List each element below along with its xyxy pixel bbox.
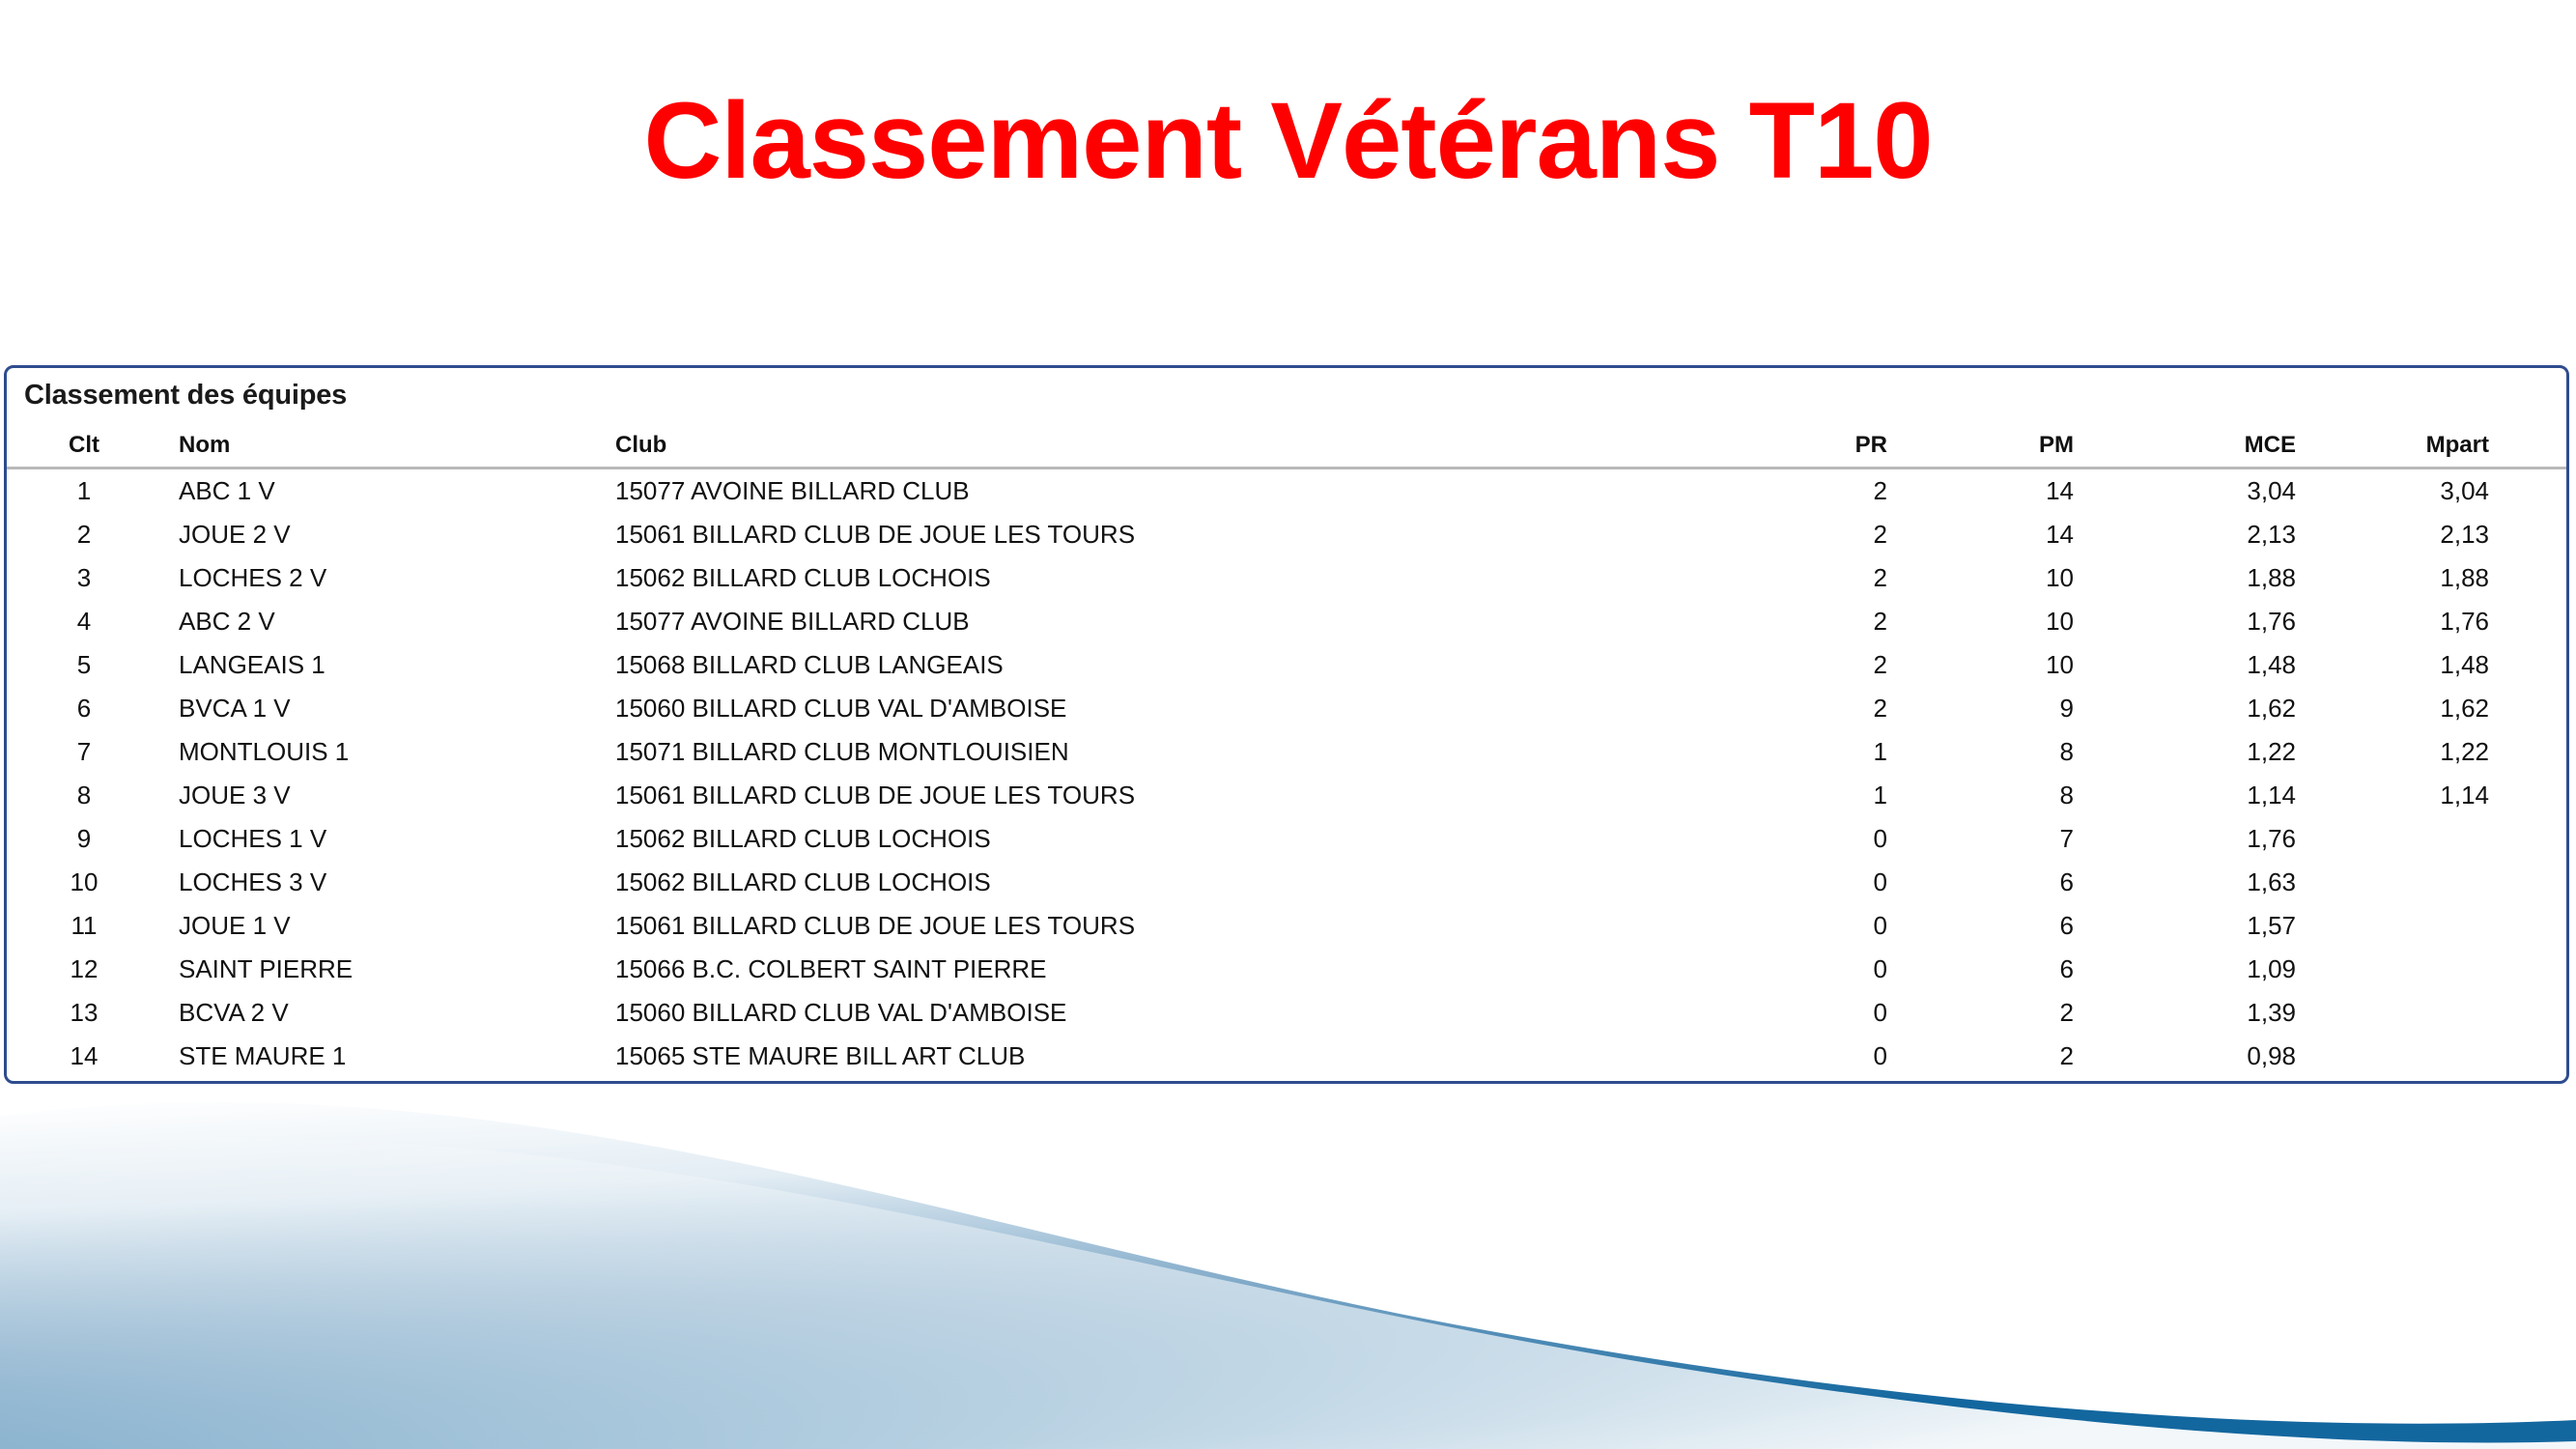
- cell-pm: 2: [1963, 991, 2146, 1035]
- cell-pr: 2: [1760, 643, 1963, 687]
- table-row[interactable]: 11JOUE 1 V15061 BILLARD CLUB DE JOUE LES…: [7, 904, 2569, 948]
- cell-ms: [2552, 904, 2569, 948]
- cell-pm: 14: [1963, 513, 2146, 556]
- cell-ms: 21: [2552, 556, 2569, 600]
- cell-clt: 8: [7, 774, 161, 817]
- cell-mpart: 1,48: [2354, 643, 2552, 687]
- cell-mpart: 1,14: [2354, 774, 2552, 817]
- cell-mce: 3,04: [2146, 469, 2354, 514]
- column-header-pm[interactable]: PM: [1963, 428, 2146, 469]
- table-row[interactable]: 1ABC 1 V15077 AVOINE BILLARD CLUB2143,04…: [7, 469, 2569, 514]
- cell-ms: [2552, 817, 2569, 861]
- cell-pr: 1: [1760, 774, 1963, 817]
- cell-nom: JOUE 1 V: [161, 904, 596, 948]
- cell-nom: ABC 1 V: [161, 469, 596, 514]
- cell-mpart: [2354, 948, 2552, 991]
- table-row[interactable]: 9LOCHES 1 V15062 BILLARD CLUB LOCHOIS071…: [7, 817, 2569, 861]
- cell-nom: LOCHES 1 V: [161, 817, 596, 861]
- cell-mce: 1,76: [2146, 600, 2354, 643]
- cell-club: 15077 AVOINE BILLARD CLUB: [596, 600, 1760, 643]
- cell-nom: STE MAURE 1: [161, 1035, 596, 1078]
- cell-ms: [2552, 861, 2569, 904]
- cell-ms: 24: [2552, 469, 2569, 514]
- cell-pm: 8: [1963, 774, 2146, 817]
- cell-pr: 0: [1760, 817, 1963, 861]
- cell-clt: 5: [7, 643, 161, 687]
- cell-mpart: [2354, 1035, 2552, 1078]
- cell-club: 15061 BILLARD CLUB DE JOUE LES TOURS: [596, 904, 1760, 948]
- cell-mpart: 3,04: [2354, 469, 2552, 514]
- table-body: 1ABC 1 V15077 AVOINE BILLARD CLUB2143,04…: [7, 469, 2569, 1079]
- cell-clt: 13: [7, 991, 161, 1035]
- cell-mpart: 2,13: [2354, 513, 2552, 556]
- cell-mce: 1,22: [2146, 730, 2354, 774]
- cell-pr: 2: [1760, 556, 1963, 600]
- cell-mpart: 1,62: [2354, 687, 2552, 730]
- cell-clt: 4: [7, 600, 161, 643]
- cell-nom: LANGEAIS 1: [161, 643, 596, 687]
- cell-ms: 21: [2552, 513, 2569, 556]
- cell-pr: 1: [1760, 730, 1963, 774]
- cell-club: 15062 BILLARD CLUB LOCHOIS: [596, 817, 1760, 861]
- cell-ms: [2552, 991, 2569, 1035]
- cell-pr: 0: [1760, 904, 1963, 948]
- cell-nom: LOCHES 3 V: [161, 861, 596, 904]
- cell-clt: 14: [7, 1035, 161, 1078]
- slide-canvas: Classement Vétérans T10 Classement des é…: [0, 0, 2576, 1449]
- table-row[interactable]: 4ABC 2 V15077 AVOINE BILLARD CLUB2101,76…: [7, 600, 2569, 643]
- ranking-table: Clt Nom Club PR PM MCE Mpart MS 1ABC 1 V…: [7, 428, 2569, 1078]
- cell-club: 15062 BILLARD CLUB LOCHOIS: [596, 556, 1760, 600]
- cell-nom: ABC 2 V: [161, 600, 596, 643]
- table-row[interactable]: 8JOUE 3 V15061 BILLARD CLUB DE JOUE LES …: [7, 774, 2569, 817]
- cell-pr: 0: [1760, 861, 1963, 904]
- cell-club: 15065 STE MAURE BILL ART CLUB: [596, 1035, 1760, 1078]
- cell-mce: 1,57: [2146, 904, 2354, 948]
- cell-mce: 2,13: [2146, 513, 2354, 556]
- table-row[interactable]: 13BCVA 2 V15060 BILLARD CLUB VAL D'AMBOI…: [7, 991, 2569, 1035]
- table-header: Clt Nom Club PR PM MCE Mpart MS: [7, 428, 2569, 469]
- cell-mce: 1,14: [2146, 774, 2354, 817]
- cell-clt: 10: [7, 861, 161, 904]
- column-header-mpart[interactable]: Mpart: [2354, 428, 2552, 469]
- cell-club: 15066 B.C. COLBERT SAINT PIERRE: [596, 948, 1760, 991]
- cell-ms: [2552, 948, 2569, 991]
- table-row[interactable]: 6BVCA 1 V15060 BILLARD CLUB VAL D'AMBOIS…: [7, 687, 2569, 730]
- cell-clt: 2: [7, 513, 161, 556]
- cell-ms: 49: [2552, 600, 2569, 643]
- cell-pm: 10: [1963, 556, 2146, 600]
- column-header-nom[interactable]: Nom: [161, 428, 596, 469]
- cell-nom: JOUE 3 V: [161, 774, 596, 817]
- cell-club: 15068 BILLARD CLUB LANGEAIS: [596, 643, 1760, 687]
- cell-club: 15071 BILLARD CLUB MONTLOUISIEN: [596, 730, 1760, 774]
- cell-clt: 12: [7, 948, 161, 991]
- cell-mpart: [2354, 904, 2552, 948]
- cell-mpart: [2354, 817, 2552, 861]
- cell-pm: 8: [1963, 730, 2146, 774]
- table-row[interactable]: 5LANGEAIS 115068 BILLARD CLUB LANGEAIS21…: [7, 643, 2569, 687]
- column-header-ms[interactable]: MS: [2552, 428, 2569, 469]
- cell-pr: 0: [1760, 991, 1963, 1035]
- cell-nom: MONTLOUIS 1: [161, 730, 596, 774]
- cell-ms: 24: [2552, 687, 2569, 730]
- cell-mce: 1,39: [2146, 991, 2354, 1035]
- cell-mpart: [2354, 861, 2552, 904]
- cell-pm: 10: [1963, 643, 2146, 687]
- cell-pr: 0: [1760, 948, 1963, 991]
- cell-clt: 11: [7, 904, 161, 948]
- cell-mce: 1,63: [2146, 861, 2354, 904]
- cell-pm: 6: [1963, 948, 2146, 991]
- cell-pm: 9: [1963, 687, 2146, 730]
- page-title: Classement Vétérans T10: [0, 87, 2576, 195]
- cell-nom: BVCA 1 V: [161, 687, 596, 730]
- cell-clt: 6: [7, 687, 161, 730]
- cell-club: 15061 BILLARD CLUB DE JOUE LES TOURS: [596, 774, 1760, 817]
- cell-pm: 2: [1963, 1035, 2146, 1078]
- cell-club: 15060 BILLARD CLUB VAL D'AMBOISE: [596, 991, 1760, 1035]
- cell-pr: 2: [1760, 600, 1963, 643]
- cell-pr: 2: [1760, 687, 1963, 730]
- cell-nom: JOUE 2 V: [161, 513, 596, 556]
- cell-pm: 6: [1963, 861, 2146, 904]
- cell-mce: 1,09: [2146, 948, 2354, 991]
- cell-pr: 2: [1760, 469, 1963, 514]
- cell-mpart: 1,88: [2354, 556, 2552, 600]
- cell-clt: 9: [7, 817, 161, 861]
- column-header-mce[interactable]: MCE: [2146, 428, 2354, 469]
- cell-ms: 11: [2552, 730, 2569, 774]
- panel-heading: Classement des équipes: [24, 380, 347, 412]
- cell-pr: 2: [1760, 513, 1963, 556]
- table-header-row: Clt Nom Club PR PM MCE Mpart MS: [7, 428, 2569, 469]
- table-row[interactable]: 2JOUE 2 V15061 BILLARD CLUB DE JOUE LES …: [7, 513, 2569, 556]
- cell-mce: 1,76: [2146, 817, 2354, 861]
- table-row[interactable]: 3LOCHES 2 V15062 BILLARD CLUB LOCHOIS210…: [7, 556, 2569, 600]
- cell-mpart: 1,76: [2354, 600, 2552, 643]
- cell-mce: 0,98: [2146, 1035, 2354, 1078]
- table-row[interactable]: 12SAINT PIERRE15066 B.C. COLBERT SAINT P…: [7, 948, 2569, 991]
- cell-nom: LOCHES 2 V: [161, 556, 596, 600]
- cell-club: 15077 AVOINE BILLARD CLUB: [596, 469, 1760, 514]
- cell-clt: 3: [7, 556, 161, 600]
- cell-mce: 1,48: [2146, 643, 2354, 687]
- table-row[interactable]: 14STE MAURE 115065 STE MAURE BILL ART CL…: [7, 1035, 2569, 1078]
- cell-pm: 10: [1963, 600, 2146, 643]
- cell-mce: 1,88: [2146, 556, 2354, 600]
- cell-mpart: [2354, 991, 2552, 1035]
- cell-club: 15060 BILLARD CLUB VAL D'AMBOISE: [596, 687, 1760, 730]
- cell-club: 15062 BILLARD CLUB LOCHOIS: [596, 861, 1760, 904]
- table-row[interactable]: 10LOCHES 3 V15062 BILLARD CLUB LOCHOIS06…: [7, 861, 2569, 904]
- column-header-club[interactable]: Club: [596, 428, 1760, 469]
- cell-nom: BCVA 2 V: [161, 991, 596, 1035]
- cell-pm: 14: [1963, 469, 2146, 514]
- cell-pm: 7: [1963, 817, 2146, 861]
- cell-ms: [2552, 1035, 2569, 1078]
- cell-club: 15061 BILLARD CLUB DE JOUE LES TOURS: [596, 513, 1760, 556]
- cell-nom: SAINT PIERRE: [161, 948, 596, 991]
- cell-ms: 39: [2552, 774, 2569, 817]
- column-header-clt[interactable]: Clt: [7, 428, 161, 469]
- table-row[interactable]: 7MONTLOUIS 115071 BILLARD CLUB MONTLOUIS…: [7, 730, 2569, 774]
- cell-pm: 6: [1963, 904, 2146, 948]
- ranking-panel: Classement des équipes Clt Nom Club PR P…: [4, 365, 2569, 1084]
- cell-ms: 11: [2552, 643, 2569, 687]
- column-header-pr[interactable]: PR: [1760, 428, 1963, 469]
- cell-mpart: 1,22: [2354, 730, 2552, 774]
- cell-clt: 7: [7, 730, 161, 774]
- cell-mce: 1,62: [2146, 687, 2354, 730]
- cell-pr: 0: [1760, 1035, 1963, 1078]
- cell-clt: 1: [7, 469, 161, 514]
